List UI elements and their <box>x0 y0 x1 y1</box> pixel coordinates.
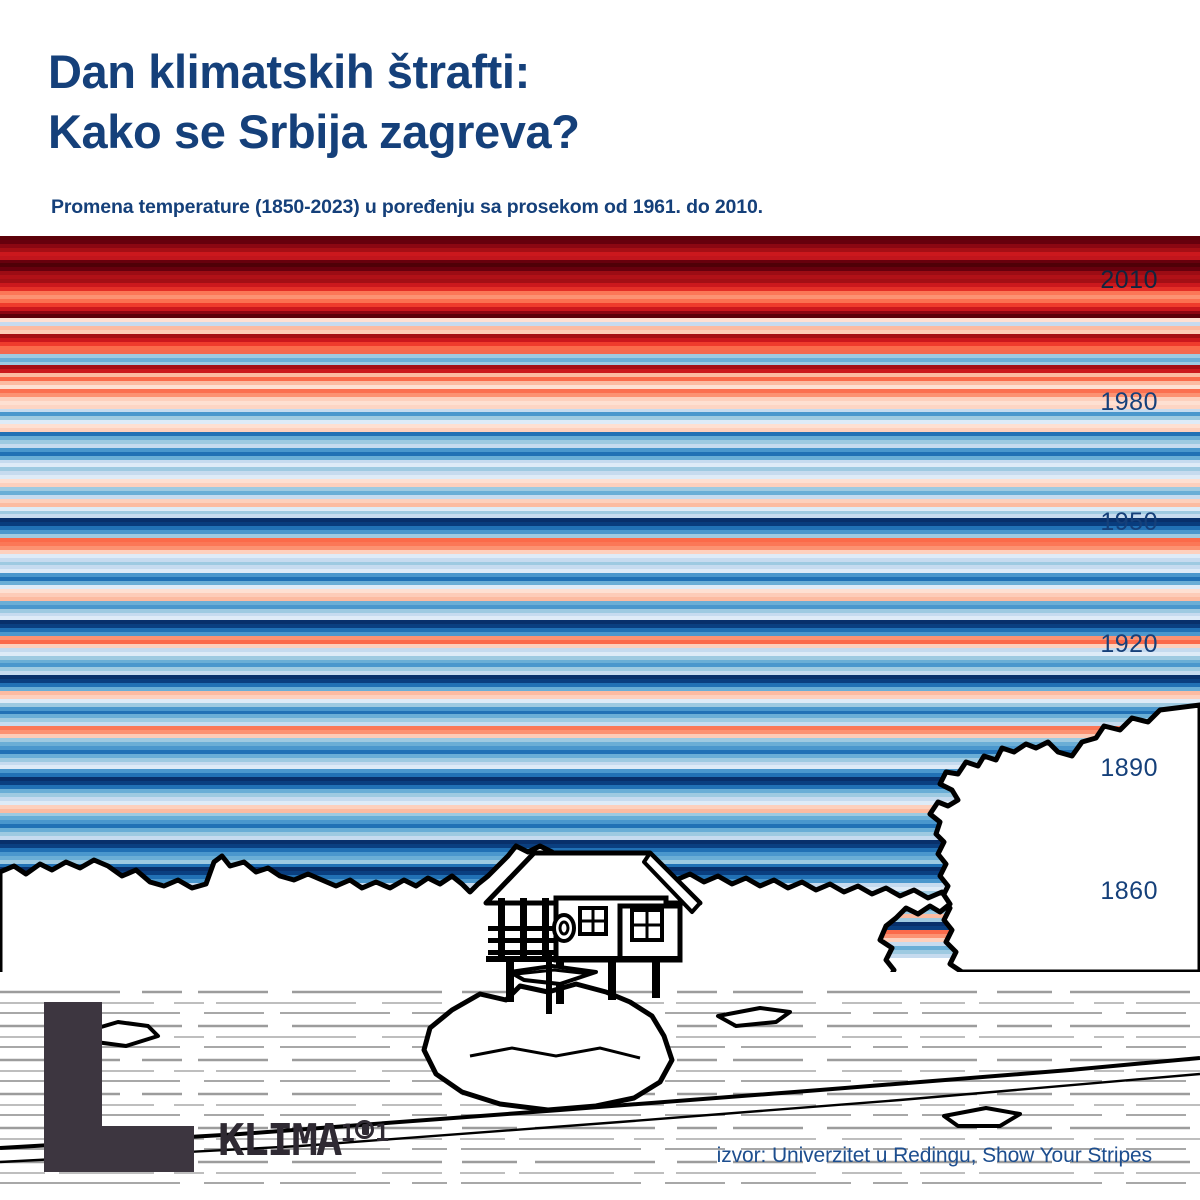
rock-island <box>424 984 672 1110</box>
logo-name: KLIMA <box>218 1115 340 1166</box>
source-credit: izvor: Univerzitet u Redingu, Show Your … <box>717 1144 1152 1168</box>
stilt-1 <box>506 960 514 1002</box>
canoe <box>510 966 596 984</box>
canoe-edge <box>516 970 590 974</box>
year-stripe <box>0 954 1200 958</box>
logo-wordmark: KLIMA11 <box>218 1115 388 1166</box>
logo-sup-left: 1 <box>340 1119 353 1147</box>
infographic-page: Dan klimatskih štrafti: Kako se Srbija z… <box>0 0 1200 1200</box>
klima101-logo[interactable]: KLIMA11 <box>44 1002 194 1172</box>
stripes-container <box>0 236 1200 958</box>
stilt-3 <box>608 960 616 1000</box>
globe-icon <box>355 1120 374 1139</box>
dock-pole <box>546 952 552 1014</box>
logo-sup-right: 1 <box>375 1119 388 1147</box>
header: Dan klimatskih štrafti: Kako se Srbija z… <box>0 0 1200 236</box>
ice-chunk-right <box>944 1108 1020 1126</box>
rock-crack <box>470 1048 640 1058</box>
stilt-4 <box>652 960 660 998</box>
title-line-1: Dan klimatskih štrafti: <box>48 42 1108 102</box>
warming-stripes-chart <box>0 236 1200 958</box>
ice-chunk-mid <box>718 1008 790 1026</box>
page-subtitle: Promena temperature (1850-2023) u poređe… <box>51 196 1151 219</box>
stilt-2 <box>556 960 564 1004</box>
logo-l-mark <box>44 1002 194 1172</box>
title-line-2: Kako se Srbija zagreva? <box>48 102 1108 162</box>
page-title: Dan klimatskih štrafti: Kako se Srbija z… <box>48 42 1108 162</box>
